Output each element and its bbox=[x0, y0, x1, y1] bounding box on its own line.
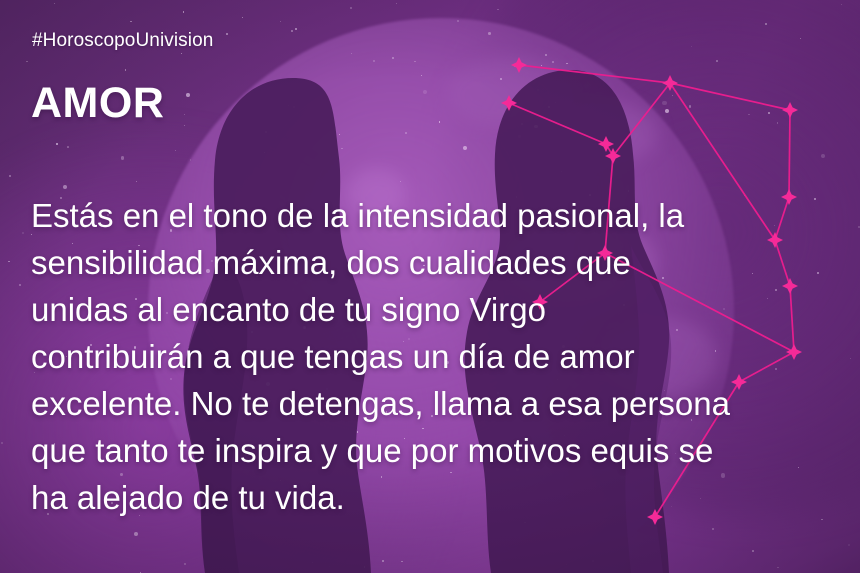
horoscope-text-line: sensibilidad máxima, dos cualidades que bbox=[31, 239, 831, 286]
horoscope-card: #HoroscopoUnivision AMOR Estás en el ton… bbox=[0, 0, 860, 573]
horoscope-text-line: unidas al encanto de tu signo Virgo bbox=[31, 286, 831, 333]
text-content: #HoroscopoUnivision AMOR Estás en el ton… bbox=[0, 0, 860, 573]
horoscope-text-line: ha alejado de tu vida. bbox=[31, 474, 831, 521]
horoscope-text-line: que tanto te inspira y que por motivos e… bbox=[31, 427, 831, 474]
horoscope-text-line: Estás en el tono de la intensidad pasion… bbox=[31, 192, 831, 239]
hashtag-label: #HoroscopoUnivision bbox=[32, 30, 213, 52]
horoscope-body-text: Estás en el tono de la intensidad pasion… bbox=[31, 192, 831, 521]
horoscope-text-line: excelente. No te detengas, llama a esa p… bbox=[31, 380, 831, 427]
page-title: AMOR bbox=[31, 79, 164, 128]
horoscope-text-line: contribuirán a que tengas un día de amor bbox=[31, 333, 831, 380]
